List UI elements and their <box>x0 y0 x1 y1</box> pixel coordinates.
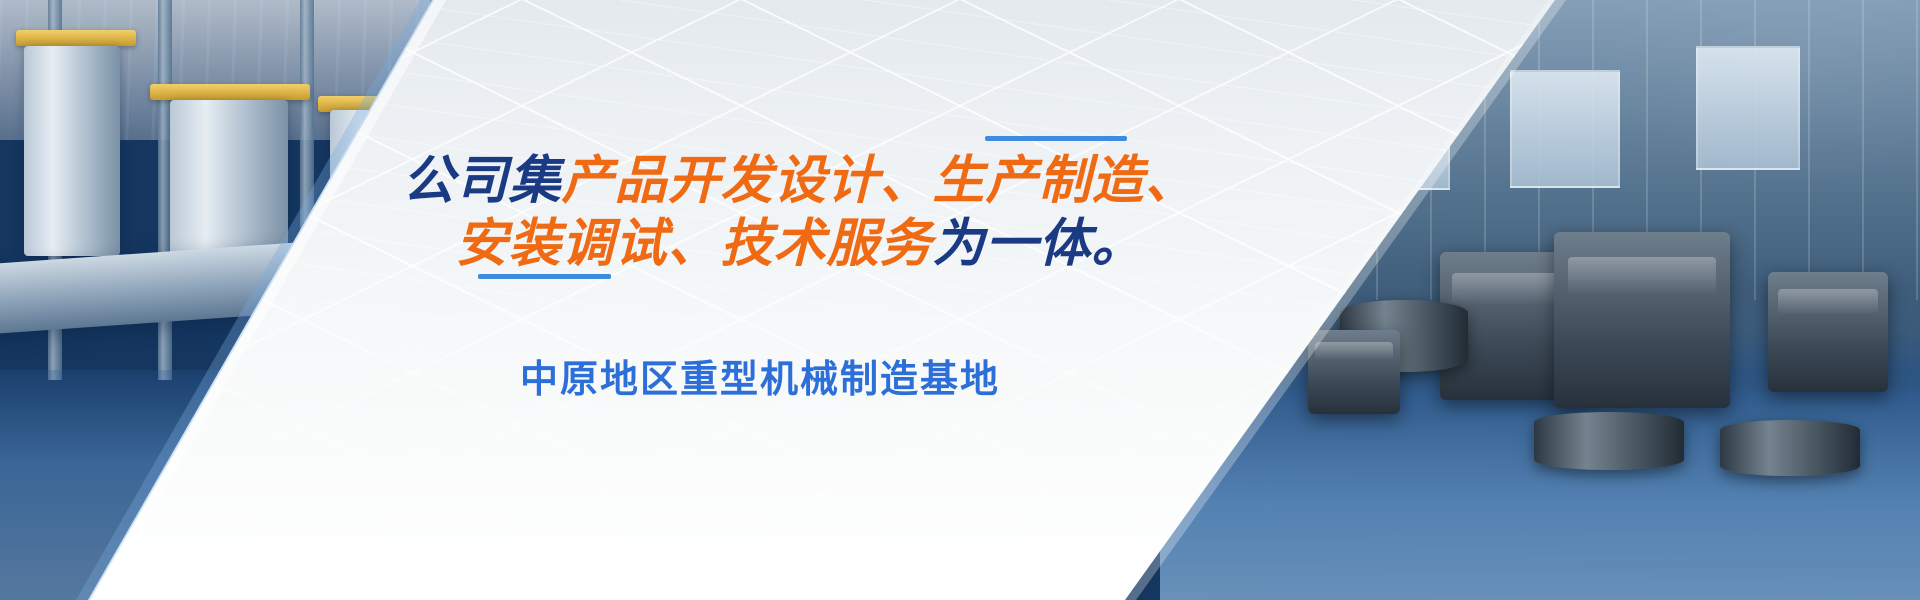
accent-rule-bottom <box>478 274 611 279</box>
headline: 公司集产品开发设计、生产制造、 安装调试、技术服务为一体。 <box>0 150 1600 276</box>
headline-line-2: 安装调试、技术服务为一体。 <box>0 213 1600 276</box>
headline-line-1: 公司集产品开发设计、生产制造、 <box>0 150 1600 213</box>
headline-segment: 为一体。 <box>933 215 1145 273</box>
banner-content: 公司集产品开发设计、生产制造、 安装调试、技术服务为一体。 中原地区重型机械制造… <box>0 0 1920 600</box>
subtitle: 中原地区重型机械制造基地 <box>0 348 1520 403</box>
accent-rule-top <box>985 136 1127 141</box>
hero-banner: 公司集产品开发设计、生产制造、 安装调试、技术服务为一体。 中原地区重型机械制造… <box>0 0 1920 600</box>
headline-segment: 产品开发设计、生产制造、 <box>562 152 1198 210</box>
headline-segment: 公司集 <box>402 152 561 210</box>
headline-segment: 安装调试、技术服务 <box>455 215 932 273</box>
